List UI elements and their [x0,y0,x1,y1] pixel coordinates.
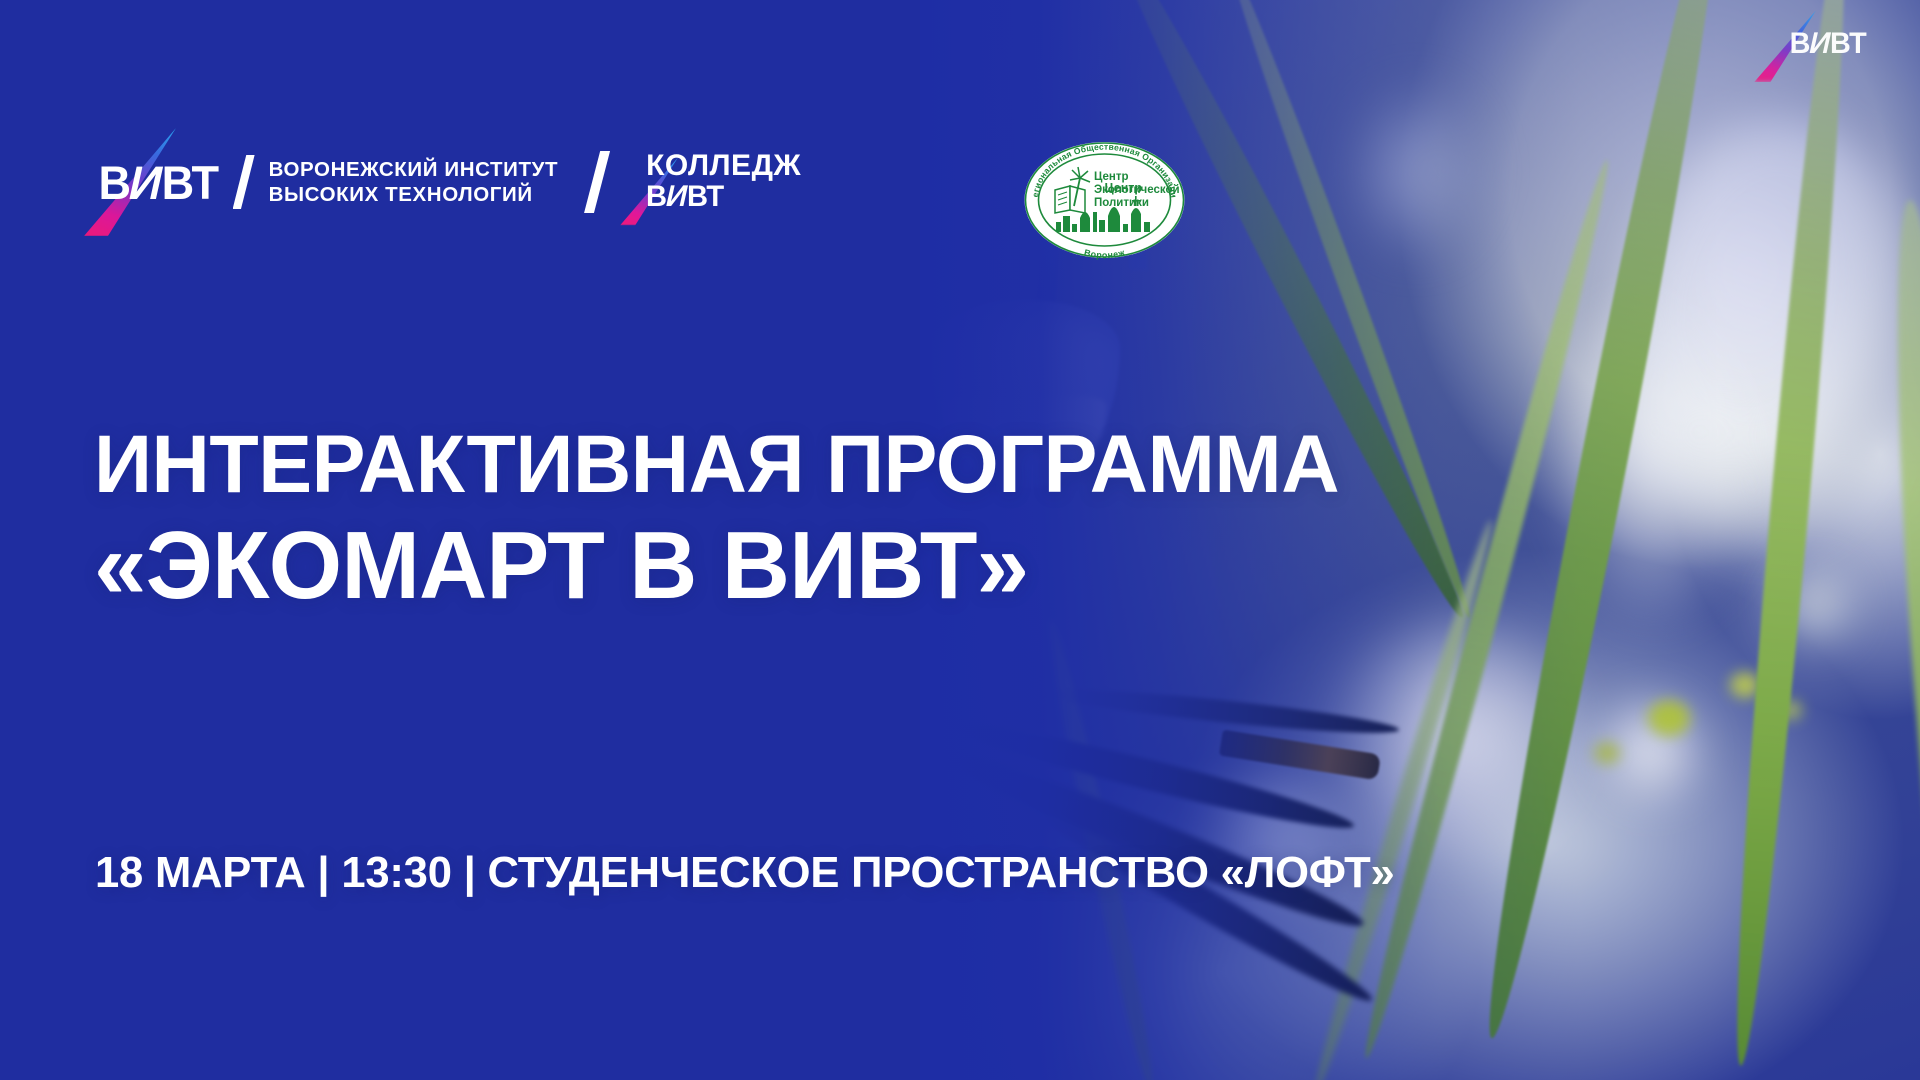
vivt-wordmark: ВИВТ [98,159,218,206]
institute-name-line1: ВОРОНЕЖСКИЙ ИНСТИТУТ [269,157,558,182]
headline-block: ИНТЕРАКТИВНАЯ ПРОГРАММА «ЭКОМАРТ В ВИВТ» [94,424,1358,614]
eco-policy-center-emblem: Региональная Общественная Организация Во… [1022,140,1187,260]
watermark-wordmark: ВИВТ [1790,29,1867,59]
headline-line-1: ИНТЕРАКТИВНАЯ ПРОГРАММА [94,424,1339,506]
vivt-institute-logo: ВИВТ [96,150,269,214]
event-meta-line: 18 МАРТА | 13:30 | СТУДЕНЧЕСКОЕ ПРОСТРАН… [95,848,1395,898]
college-letters-vt: ВТ [687,180,724,213]
logo-row: ВИВТ ВОРОНЕЖСКИЙ ИНСТИТУТ ВЫСОКИХ ТЕХНОЛ… [96,150,801,214]
eco-center-text-1: Центр [1094,171,1129,183]
eco-center-text-3: Политики [1094,197,1149,209]
vivt-letters-vt: ВТ [162,156,219,209]
headline-line-2: «ЭКОМАРТ В ВИВТ» [94,518,1339,614]
slash-divider-icon [584,151,610,213]
institute-name-line2: ВЫСОКИХ ТЕХНОЛОГИЙ [269,182,558,207]
vivt-college-logo: КОЛЛЕДЖ ВИВТ [636,151,801,212]
corner-watermark-logo: ВИВТ [1788,22,1868,66]
eco-emblem-svg: Региональная Общественная Организация Во… [1022,140,1187,260]
institute-full-name: ВОРОНЕЖСКИЙ ИНСТИТУТ ВЫСОКИХ ТЕХНОЛОГИЙ [269,157,558,207]
poster-canvas: ВИВТ ВИВТ ВОРОНЕЖСКИЙ ИНСТИТУТ ВЫСОКИХ Т… [0,0,1920,1080]
watermark-letters-vt: ВТ [1830,27,1866,60]
college-wordmark: ВИВТ [646,182,796,213]
college-label: КОЛЛЕДЖ [646,151,801,182]
slash-divider-icon [233,155,255,209]
eco-center-text-2: Экологической [1094,184,1180,196]
vivt-letter-i: И [125,159,167,206]
open-book-icon [1055,186,1085,213]
